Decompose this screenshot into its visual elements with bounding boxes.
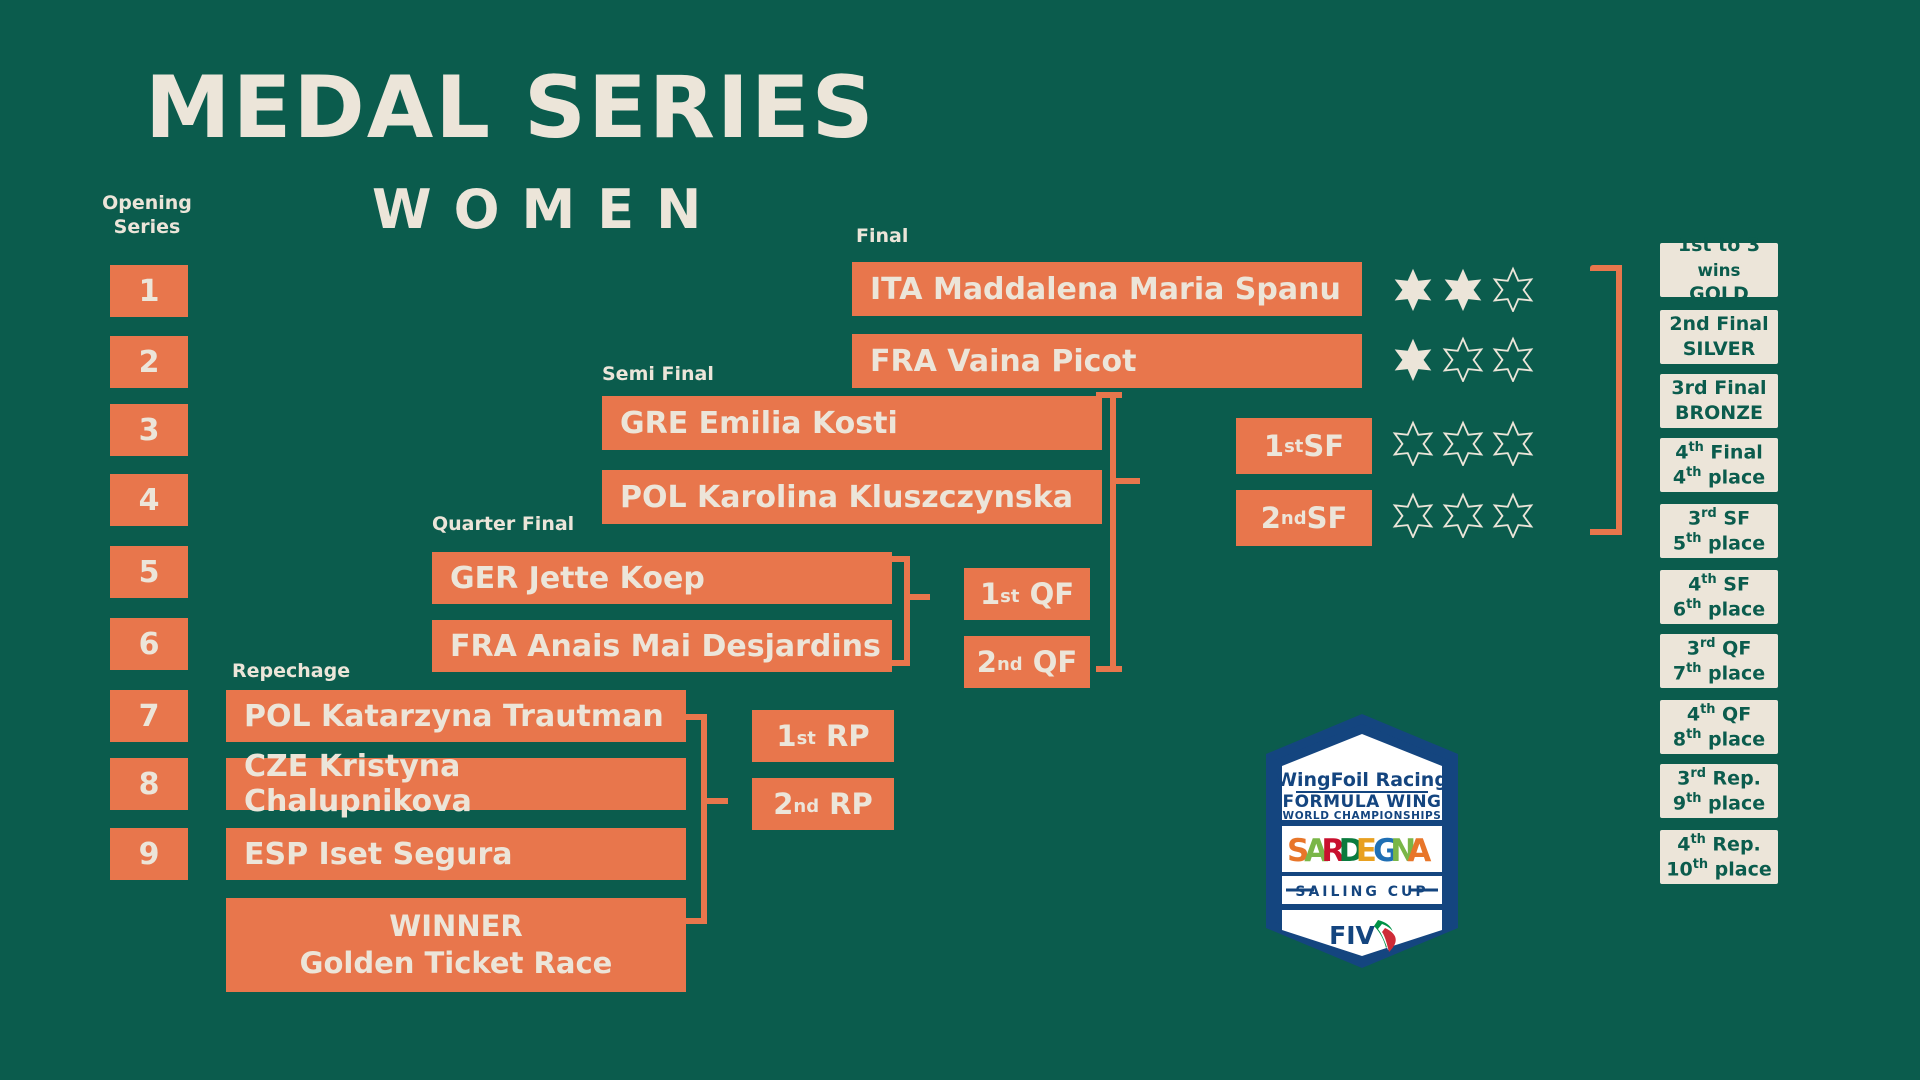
star-empty-icon [1490, 420, 1536, 466]
legend-line-2: 8th place [1673, 727, 1765, 752]
star-empty-icon [1440, 420, 1486, 466]
repechage-entry-3[interactable]: ESP Iset Segura [226, 828, 686, 880]
star-empty-icon [1440, 336, 1486, 382]
logo-line-6: FIV [1329, 921, 1375, 950]
seed-box-5[interactable]: 5 [110, 546, 188, 598]
legend-line-2: 6th place [1673, 597, 1765, 622]
repechage-entry-1[interactable]: POL Katarzyna Trautman [226, 690, 686, 742]
final-entry-1[interactable]: ITA Maddalena Maria Spanu [852, 262, 1362, 316]
badge-ordinal: nd [793, 796, 819, 817]
winner-line-2: Golden Ticket Race [300, 945, 613, 982]
legend-line-2: SILVER [1683, 337, 1756, 362]
semi-final-entry-2[interactable]: POL Karolina Kluszczynska [602, 470, 1102, 524]
qualifier-badge-2nd-qf[interactable]: 2nd QF [964, 636, 1090, 688]
badge-rank: 1 [980, 577, 1000, 611]
qualifier-badge-2nd-sf[interactable]: 2ndSF [1236, 490, 1372, 546]
legend-box-7[interactable]: 3rd QF7th place [1660, 634, 1778, 688]
legend-line-2: 10th place [1666, 857, 1772, 882]
sardegna-sailing-cup-logo: WingFoil Racing FORMULA WING WORLD CHAMP… [1252, 712, 1472, 970]
badge-round: SF [1303, 429, 1344, 463]
badge-round: RP [829, 787, 873, 821]
legend-box-9[interactable]: 3rd Rep.9th place [1660, 764, 1778, 818]
star-empty-icon [1490, 492, 1536, 538]
seed-box-4[interactable]: 4 [110, 474, 188, 526]
legend-line-1: 4th Final [1675, 440, 1763, 465]
star-empty-icon [1390, 420, 1436, 466]
star-rating-final-2 [1390, 336, 1536, 382]
svg-text:A: A [1407, 833, 1431, 869]
qualifier-badge-1st-rp[interactable]: 1st RP [752, 710, 894, 762]
seed-box-9[interactable]: 9 [110, 828, 188, 880]
logo-line-5: SAILING CUP [1295, 884, 1428, 900]
legend-box-10[interactable]: 4th Rep.10th place [1660, 830, 1778, 884]
legend-line-1: 4th Rep. [1677, 832, 1761, 857]
seed-box-2[interactable]: 2 [110, 336, 188, 388]
legend-line-1: 1st to 3 wins [1660, 233, 1778, 282]
star-rating-final-1 [1390, 266, 1536, 312]
badge-rank: 1 [776, 719, 796, 753]
logo-line-2: FORMULA WING [1282, 792, 1441, 812]
repechage-entry-2[interactable]: CZE Kristyna Chalupnikova [226, 758, 686, 810]
badge-ordinal: nd [1281, 508, 1307, 529]
star-filled-icon [1390, 266, 1436, 312]
badge-rank: 2 [1261, 501, 1281, 535]
legend-line-2: 7th place [1673, 661, 1765, 686]
medal-series-bracket: MEDAL SERIES WOMEN Opening Series Repech… [0, 0, 1920, 1080]
badge-round: RP [826, 719, 870, 753]
legend-box-6[interactable]: 4th SF6th place [1660, 570, 1778, 624]
round-label-final: Final [856, 225, 908, 249]
qualifier-badge-2nd-rp[interactable]: 2nd RP [752, 778, 894, 830]
legend-line-1: 3rd SF [1688, 506, 1750, 531]
badge-round: QF [1033, 645, 1077, 679]
star-rating-sf-1 [1390, 420, 1536, 466]
winner-line-1: WINNER [389, 908, 522, 945]
legend-line-2: 9th place [1673, 791, 1765, 816]
round-label-repechage: Repechage [232, 660, 350, 684]
logo-line-3: WORLD CHAMPIONSHIPS [1283, 810, 1442, 822]
legend-line-1: 3rd Final [1671, 376, 1766, 401]
legend-box-8[interactable]: 4th QF8th place [1660, 700, 1778, 754]
badge-ordinal: st [797, 728, 816, 749]
badge-rank: 1 [1264, 429, 1284, 463]
semi-final-entry-1[interactable]: GRE Emilia Kosti [602, 396, 1102, 450]
star-empty-icon [1440, 492, 1486, 538]
badge-rank: 2 [977, 645, 997, 679]
badge-ordinal: st [1284, 436, 1303, 457]
round-label-quarter-final: Quarter Final [432, 513, 574, 537]
page-subtitle: WOMEN [372, 178, 723, 241]
seed-box-7[interactable]: 7 [110, 690, 188, 742]
qualifier-badge-1st-qf[interactable]: 1st QF [964, 568, 1090, 620]
legend-line-1: 3rd Rep. [1677, 766, 1761, 791]
star-rating-sf-2 [1390, 492, 1536, 538]
badge-round: QF [1030, 577, 1074, 611]
legend-box-4[interactable]: 4th Final4th place [1660, 438, 1778, 492]
quarter-final-entry-1[interactable]: GER Jette Koep [432, 552, 892, 604]
logo-line-1: WingFoil Racing [1276, 769, 1448, 791]
seed-box-3[interactable]: 3 [110, 404, 188, 456]
round-label-opening-series: Opening Series [98, 192, 196, 240]
star-empty-icon [1490, 266, 1536, 312]
legend-box-1[interactable]: 1st to 3 winsGOLD [1660, 243, 1778, 297]
legend-line-1: 3rd QF [1687, 636, 1752, 661]
legend-box-2[interactable]: 2nd FinalSILVER [1660, 310, 1778, 364]
final-entry-2[interactable]: FRA Vaina Picot [852, 334, 1362, 388]
legend-box-3[interactable]: 3rd FinalBRONZE [1660, 374, 1778, 428]
star-filled-icon [1440, 266, 1486, 312]
legend-line-1: 4th SF [1688, 572, 1750, 597]
legend-line-1: 4th QF [1687, 702, 1751, 727]
legend-line-1: 2nd Final [1669, 312, 1768, 337]
legend-line-2: 5th place [1673, 531, 1765, 556]
repechage-golden-ticket-winner[interactable]: WINNER Golden Ticket Race [226, 898, 686, 992]
legend-line-2: GOLD [1689, 282, 1749, 307]
seed-box-1[interactable]: 1 [110, 265, 188, 317]
badge-ordinal: st [1000, 586, 1019, 607]
star-empty-icon [1490, 336, 1536, 382]
legend-line-2: BRONZE [1675, 401, 1763, 426]
star-filled-icon [1390, 336, 1436, 382]
seed-box-6[interactable]: 6 [110, 618, 188, 670]
page-title: MEDAL SERIES [145, 58, 876, 158]
badge-round: SF [1307, 501, 1348, 535]
legend-line-2: 4th place [1673, 465, 1765, 490]
qualifier-badge-1st-sf[interactable]: 1stSF [1236, 418, 1372, 474]
legend-box-5[interactable]: 3rd SF5th place [1660, 504, 1778, 558]
seed-box-8[interactable]: 8 [110, 758, 188, 810]
round-label-semi-final: Semi Final [602, 363, 714, 387]
star-empty-icon [1390, 492, 1436, 538]
badge-rank: 2 [773, 787, 793, 821]
quarter-final-entry-2[interactable]: FRA Anais Mai Desjardins [432, 620, 892, 672]
logo-line-4: SARDEGNA [1287, 833, 1431, 869]
badge-ordinal: nd [997, 654, 1023, 675]
